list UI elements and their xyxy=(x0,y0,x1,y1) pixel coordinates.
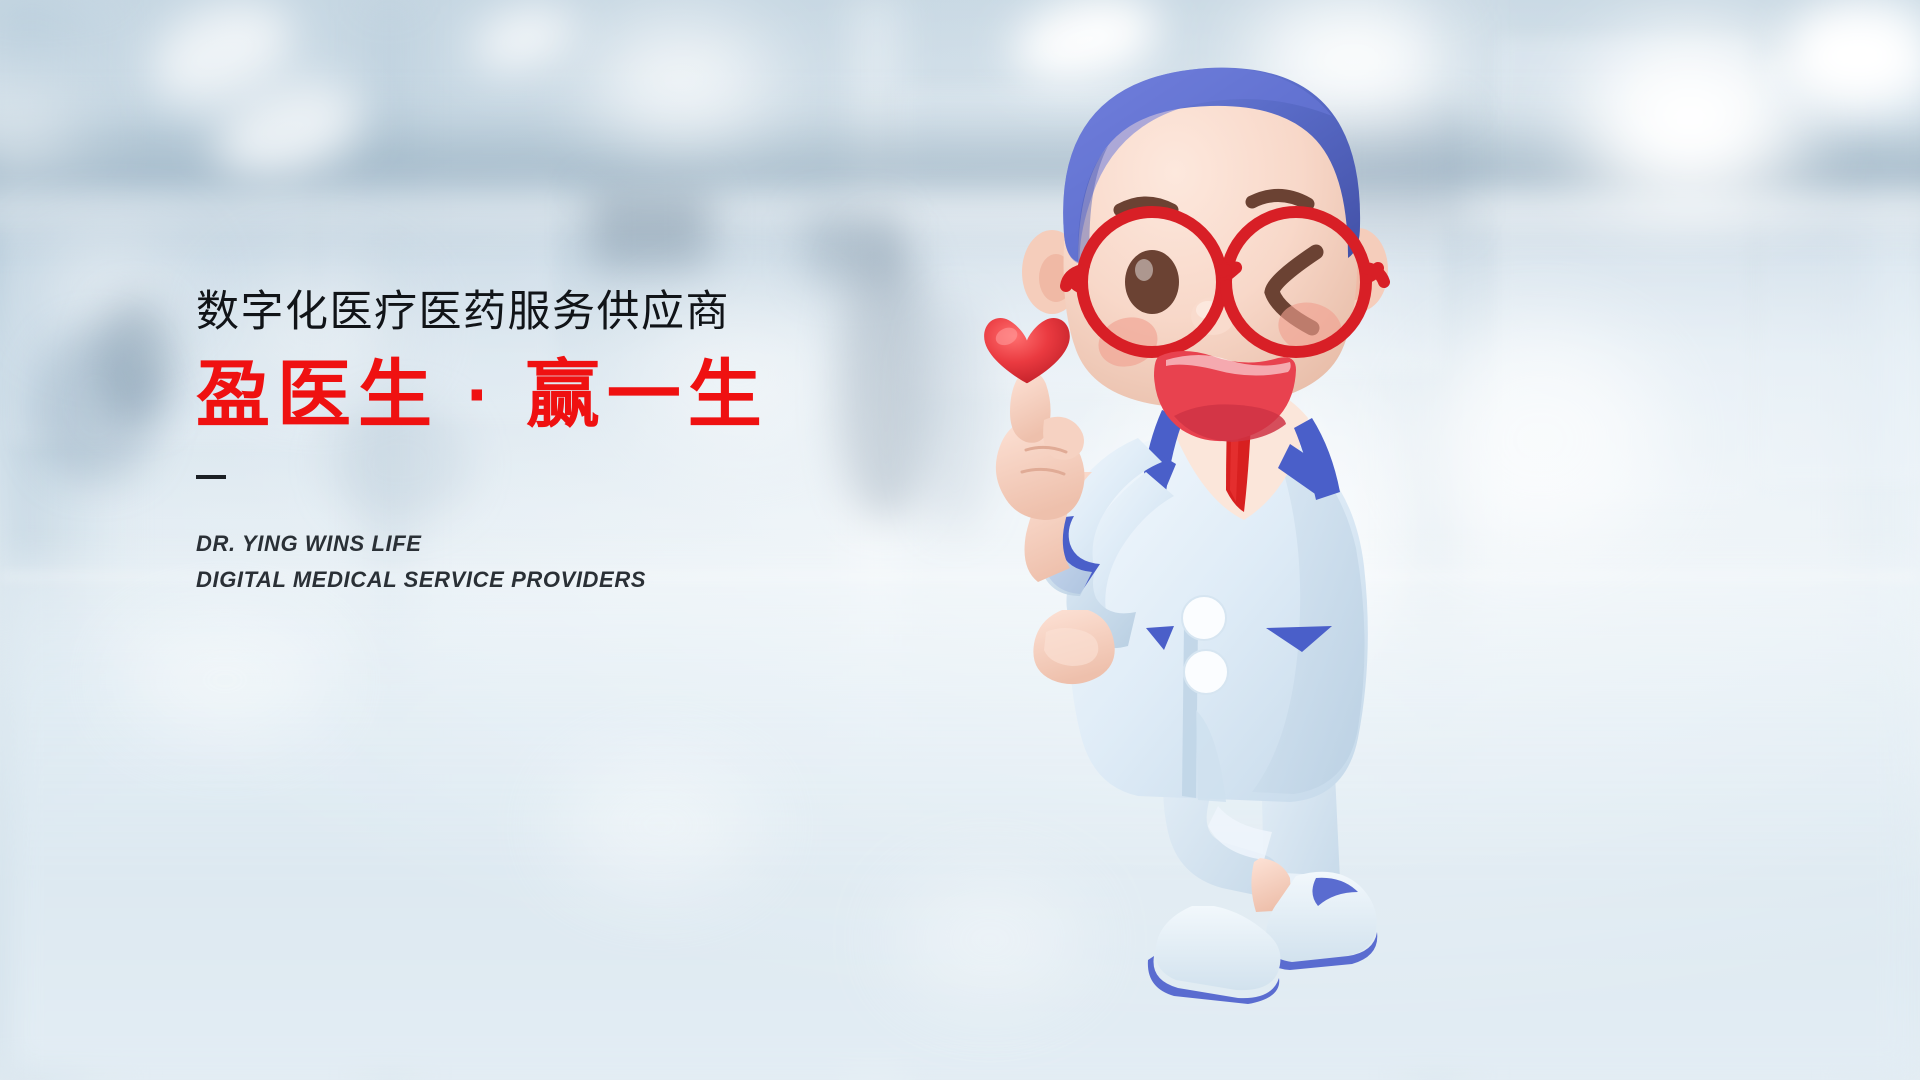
hero-subtitle-line-2: DIGITAL MEDICAL SERVICE PROVIDERS xyxy=(196,562,956,598)
hero-copy: 数字化医疗医药服务供应商 盈医生 · 赢一生 DR. YING WINS LIF… xyxy=(196,290,956,597)
hero-eyebrow: 数字化医疗医药服务供应商 xyxy=(196,290,956,335)
hero-banner: 数字化医疗医药服务供应商 盈医生 · 赢一生 DR. YING WINS LIF… xyxy=(0,0,1920,1080)
mascot-glasses-bridge xyxy=(1222,267,1231,272)
title-divider xyxy=(196,475,226,479)
hero-subtitle-group: DR. YING WINS LIFE DIGITAL MEDICAL SERVI… xyxy=(196,526,956,597)
heart-icon xyxy=(984,318,1070,383)
doctor-mascot-illustration xyxy=(960,20,1520,1080)
mascot-open-eye xyxy=(1125,250,1179,314)
hero-subtitle-line-1: DR. YING WINS LIFE xyxy=(196,526,956,562)
page-title: 盈医生 · 赢一生 xyxy=(196,355,956,435)
